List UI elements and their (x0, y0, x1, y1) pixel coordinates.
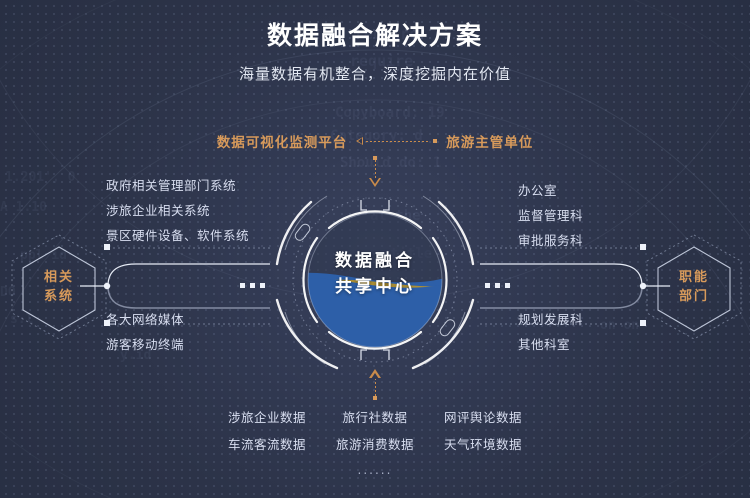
center-hub-line1: 数据融合 (255, 248, 495, 274)
right-hexagon-line1: 职能 (679, 268, 709, 287)
center-hub[interactable]: 数据融合 共享中心 (255, 160, 495, 400)
page-title: 数据融合解决方案 (0, 22, 750, 50)
bottom-ellipsis: ...... (358, 463, 393, 477)
left-connector-pipe (80, 236, 270, 336)
arrow-dotted-line (366, 141, 430, 142)
right-hexagon-line2: 部门 (679, 287, 709, 306)
bottom-data-cell: 网评舆论数据 (429, 404, 537, 431)
center-hub-line2: 共享中心 (255, 274, 495, 300)
bottom-data-cell: 天气环境数据 (429, 431, 537, 458)
left-top-source-item: 政府相关管理部门系统 (106, 173, 249, 198)
right-connector-pipe (480, 236, 670, 336)
visualization-platform-label[interactable]: 数据可视化监测平台 (217, 131, 348, 151)
top-label-row: 数据可视化监测平台 旅游主管单位 (0, 131, 750, 151)
arrow-head-icon (356, 137, 363, 145)
bottom-data-cell: 车流客流数据 (213, 431, 321, 458)
left-top-source-item: 涉旅企业相关系统 (106, 198, 249, 223)
infographic-canvas: requirerequireCopyboard: 19Category: dSh… (0, 0, 750, 498)
left-arrow-icon (356, 135, 437, 147)
left-hexagon-line2: 系统 (44, 287, 74, 306)
right-top-department-item: 办公室 (518, 178, 583, 203)
left-hexagon-line1: 相关 (44, 268, 74, 287)
bottom-data-cell: 涉旅企业数据 (213, 404, 321, 431)
bottom-data-row: 涉旅企业数据旅行社数据网评舆论数据 (213, 404, 537, 431)
bottom-data-cell: 旅行社数据 (321, 404, 429, 431)
bottom-data-rows: 涉旅企业数据旅行社数据网评舆论数据车流客流数据旅游消费数据天气环境数据 (213, 404, 537, 458)
right-top-department-item: 监督管理科 (518, 203, 583, 228)
tourism-authority-label[interactable]: 旅游主管单位 (446, 131, 533, 151)
bottom-data-grid: 涉旅企业数据旅行社数据网评舆论数据车流客流数据旅游消费数据天气环境数据 ....… (0, 404, 750, 477)
bottom-data-row: 车流客流数据旅游消费数据天气环境数据 (213, 431, 537, 458)
arrow-tail-dot-icon (433, 139, 437, 143)
bottom-data-cell: 旅游消费数据 (321, 431, 429, 458)
page-subtitle: 海量数据有机整合，深度挖掘内在价值 (0, 63, 750, 84)
header: 数据融合解决方案 海量数据有机整合，深度挖掘内在价值 (0, 22, 750, 84)
center-hub-text: 数据融合 共享中心 (255, 248, 495, 300)
